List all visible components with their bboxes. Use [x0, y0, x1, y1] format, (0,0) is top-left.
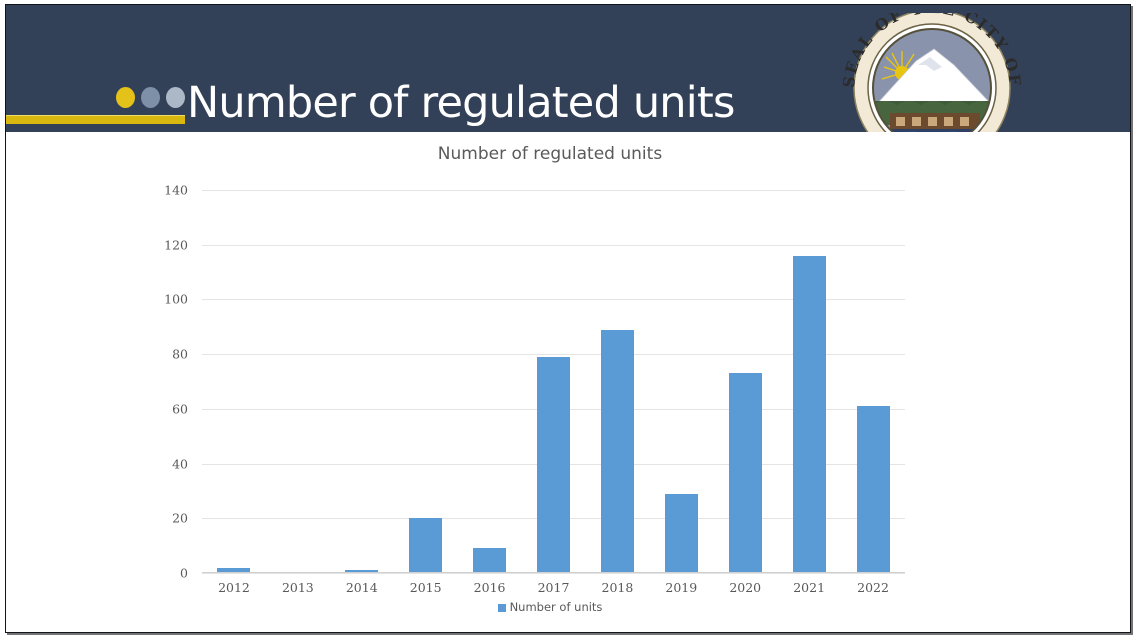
x-axis-tick-label: 2016	[458, 580, 522, 595]
x-axis-tick-label: 2012	[202, 580, 266, 595]
x-axis-tick-label: 2021	[777, 580, 841, 595]
x-axis-tick-label: 2022	[841, 580, 905, 595]
city-of-tacoma-seal-icon: SEAL OF THE CITY OF TACOMA	[830, 13, 1035, 146]
gridline	[202, 245, 905, 246]
chart-bar	[473, 548, 506, 573]
y-axis-tick-label: 100	[128, 292, 200, 307]
decorative-dots	[116, 87, 188, 109]
x-axis-tick-label: 2020	[713, 580, 777, 595]
x-axis-tick-label: 2015	[394, 580, 458, 595]
gridline	[202, 573, 905, 574]
y-axis-tick-label: 60	[128, 401, 200, 416]
y-axis-tick-label: 140	[128, 183, 200, 198]
chart-bar	[601, 330, 634, 573]
y-axis-tick-label: 0	[128, 566, 200, 581]
chart-bar	[409, 518, 442, 573]
chart-bar	[537, 357, 570, 573]
gold-accent-rule	[6, 115, 185, 124]
chart-plot-area: 020406080100120140 201220132014201520162…	[202, 190, 905, 573]
x-axis-tick-label: 2019	[649, 580, 713, 595]
chart-legend: Number of units	[6, 600, 1094, 614]
y-axis-tick-label: 120	[128, 237, 200, 252]
page-title: Number of regulated units	[187, 78, 735, 128]
chart-title: Number of regulated units	[6, 144, 1094, 164]
x-axis-tick-label: 2017	[522, 580, 586, 595]
y-axis-tick-label: 20	[128, 511, 200, 526]
chart-bar	[729, 373, 762, 573]
y-axis-tick-label: 80	[128, 347, 200, 362]
x-axis-tick-label: 2013	[266, 580, 330, 595]
chart-panel: Number of regulated units 02040608010012…	[6, 132, 1130, 633]
dot-slate-icon	[141, 87, 160, 108]
slide-header-band: Number of regulated units	[6, 5, 1130, 132]
chart-bar	[665, 494, 698, 573]
gridline	[202, 190, 905, 191]
chart-bar	[857, 406, 890, 573]
dot-light-icon	[166, 87, 185, 108]
y-axis-tick-label: 40	[128, 456, 200, 471]
x-axis-tick-label: 2018	[585, 580, 649, 595]
slide-frame: Number of regulated units	[5, 4, 1131, 633]
chart-axis-baseline	[202, 572, 905, 573]
legend-swatch-icon	[498, 604, 506, 612]
legend-label: Number of units	[510, 600, 603, 614]
dot-gold-icon	[116, 87, 135, 108]
x-axis-tick-label: 2014	[330, 580, 394, 595]
chart-bar	[793, 256, 826, 573]
